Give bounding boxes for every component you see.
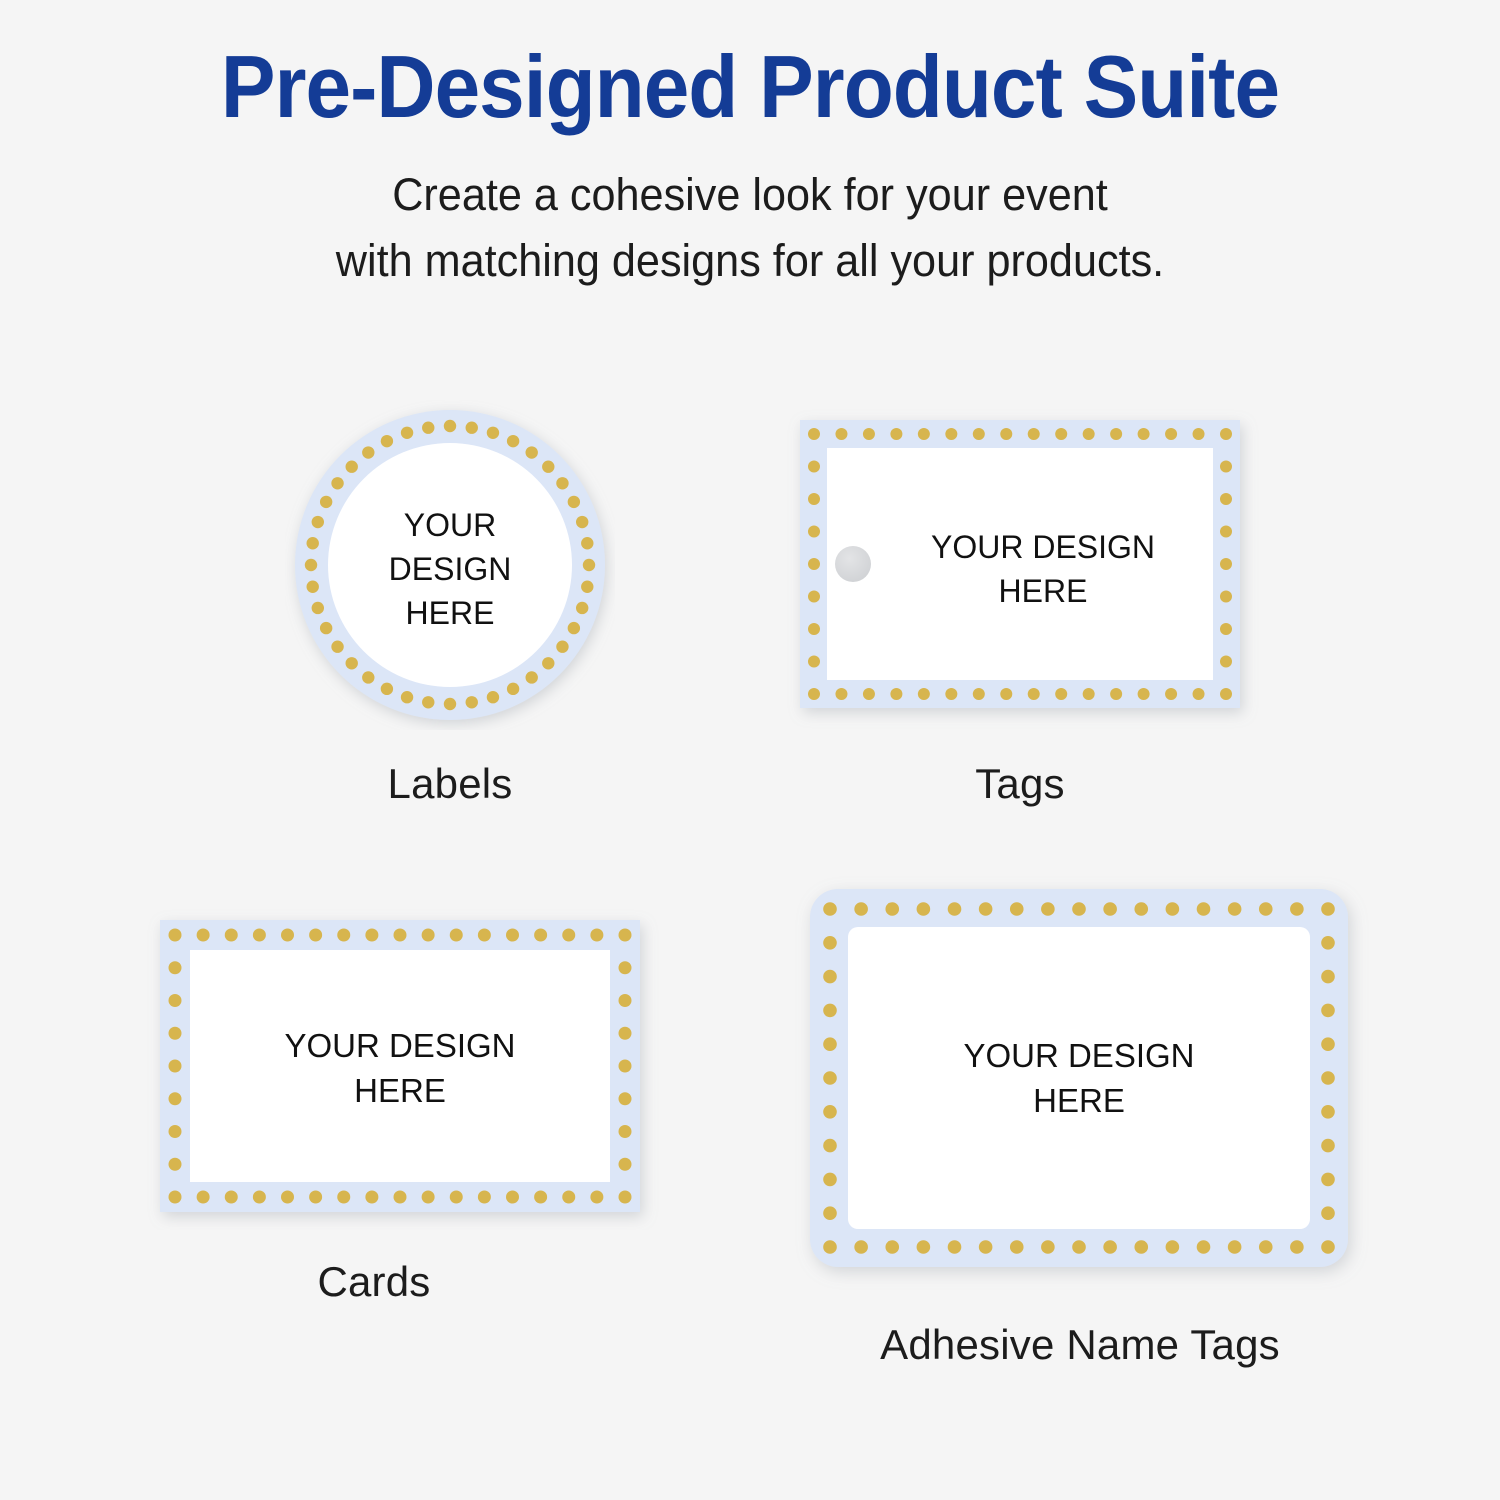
gold-dot [478,929,491,942]
gold-dot [312,516,324,528]
gold-dot [507,683,519,695]
gold-dot [808,656,820,668]
gold-dot [305,559,317,571]
gold-dot [1193,688,1205,700]
gold-dot [401,427,413,439]
gold-dot [1220,493,1232,505]
gold-dot [1072,902,1086,916]
gold-dot [450,929,463,942]
gold-dot [1220,656,1232,668]
card-white-face [190,950,610,1182]
gold-dot [362,671,374,683]
gold-dot [885,902,899,916]
gold-dot [1138,428,1150,440]
gold-dot [917,902,931,916]
gold-dot [576,602,588,614]
gold-dot [169,1191,182,1204]
gold-dot [401,691,413,703]
gold-dot [808,461,820,473]
gold-dot [1165,428,1177,440]
gold-dot [823,1173,837,1187]
gold-dot [556,641,568,653]
gold-dot [337,929,350,942]
gold-dot [1110,428,1122,440]
gold-dot [422,422,434,434]
gold-dot [576,516,588,528]
gold-dot [823,1139,837,1153]
gold-dot [487,691,499,703]
design-line-2: HERE [1033,1082,1125,1119]
gold-dot [979,902,993,916]
gold-dot [581,581,593,593]
gold-dot [619,1027,632,1040]
gold-dot [1134,1240,1148,1254]
gold-dot [1103,1240,1117,1254]
gold-dot [169,994,182,1007]
gold-dot [1166,1240,1180,1254]
gold-dot [948,902,962,916]
product-adhesive-name-tags[interactable]: YOUR DESIGN HERE Adhesive Name Tags [760,875,1400,1369]
gold-dot [619,961,632,974]
gold-dot [1220,461,1232,473]
design-line-2: HERE [999,573,1088,609]
gold-dot [823,1071,837,1085]
gold-dot [619,1125,632,1138]
gold-dot [312,602,324,614]
gold-dot [197,1191,210,1204]
gold-dot [1321,1173,1335,1187]
gold-dot [1010,902,1024,916]
gold-dot [1290,902,1304,916]
gold-dot [1193,428,1205,440]
gold-dot [253,1191,266,1204]
gold-dot [1166,902,1180,916]
gold-dot [590,1191,603,1204]
gold-dot [365,929,378,942]
gold-dot [808,526,820,538]
gold-dot [1321,1206,1335,1220]
gold-dot [444,420,456,432]
gold-dot [1010,1240,1024,1254]
gold-dot [526,446,538,458]
gold-dot [394,1191,407,1204]
gold-dot [534,1191,547,1204]
subtitle-line-2: with matching designs for all your produ… [30,228,1470,294]
gold-dot [854,902,868,916]
gold-dot [835,688,847,700]
gold-dot [346,461,358,473]
gold-dot [1134,902,1148,916]
gold-dot [169,1027,182,1040]
gold-dot [619,1191,632,1204]
gold-dot [590,929,603,942]
gold-dot [346,657,358,669]
subtitle-line-1: Create a cohesive look for your event [30,162,1470,228]
page-title: Pre-Designed Product Suite [53,42,1448,132]
gold-dot [1220,558,1232,570]
design-line-2: DESIGN [389,551,512,587]
gold-dot [562,1191,575,1204]
name-tag-art: YOUR DESIGN HERE [790,875,1370,1295]
gold-dot [169,1060,182,1073]
design-line-1: YOUR DESIGN [963,1037,1194,1074]
caption-tags: Tags [975,760,1065,808]
gold-dot [568,496,580,508]
gold-dot [362,446,374,458]
gold-dot [1228,1240,1242,1254]
gold-dot [1321,1139,1335,1153]
gold-dot [281,1191,294,1204]
gold-dot [422,1191,435,1204]
gold-dot [169,961,182,974]
gold-dot [506,929,519,942]
gold-dot [823,1037,837,1051]
hole-punch-icon [835,546,871,582]
gold-dot [885,1240,899,1254]
page-subtitle: Create a cohesive look for your event wi… [30,162,1470,294]
gold-dot [1228,902,1242,916]
gold-dot [169,1092,182,1105]
gold-dot [1110,688,1122,700]
gold-dot [466,696,478,708]
gold-dot [619,1158,632,1171]
round-label-art: YOUR DESIGN HERE [285,400,615,730]
gold-dot [1321,1240,1335,1254]
gold-dot [823,902,837,916]
gold-dot [918,688,930,700]
gold-dot [1041,1240,1055,1254]
gold-dot [1259,1240,1273,1254]
gold-dot [823,970,837,984]
gold-dot [823,936,837,950]
gold-dot [1220,526,1232,538]
gold-dot [320,622,332,634]
gold-dot [307,581,319,593]
gold-dot [307,537,319,549]
design-line-2: HERE [354,1072,446,1109]
gold-dot [542,657,554,669]
gold-dot [1321,1004,1335,1018]
gold-dot [1321,936,1335,950]
gold-dot [1220,623,1232,635]
gold-dot [1220,591,1232,603]
gold-dot [197,929,210,942]
gold-dot [320,496,332,508]
gold-dot [1083,688,1095,700]
gold-dot [808,558,820,570]
gold-dot [1028,688,1040,700]
gold-dot [863,428,875,440]
product-tags[interactable]: YOUR DESIGN HERE Tags [700,400,1340,808]
design-line-1: YOUR [404,507,496,543]
gold-dot [619,1092,632,1105]
gold-dot [1041,902,1055,916]
gold-dot [225,929,238,942]
gold-dot [526,671,538,683]
gold-dot [331,477,343,489]
gold-dot [1000,428,1012,440]
gold-dot [1055,688,1067,700]
gold-dot [253,929,266,942]
gold-dot [890,688,902,700]
gold-dot [450,1191,463,1204]
gold-dot [1321,970,1335,984]
gold-dot [854,1240,868,1254]
gold-dot [835,428,847,440]
gold-dot [381,435,393,447]
gold-dot [422,929,435,942]
gold-dot [823,1105,837,1119]
caption-labels: Labels [388,760,513,808]
gold-dot [1321,1037,1335,1051]
gold-dot [979,1240,993,1254]
gold-dot [331,641,343,653]
gold-dot [863,688,875,700]
gold-dot [337,1191,350,1204]
product-labels[interactable]: YOUR DESIGN HERE Labels [130,400,770,808]
gold-dot [619,994,632,1007]
name-tag-white-face [848,927,1310,1229]
design-line-1: YOUR DESIGN [284,1027,515,1064]
gold-dot [808,428,820,440]
gold-dot [948,1240,962,1254]
gold-dot [619,929,632,942]
gold-dot [1072,1240,1086,1254]
gold-dot [281,929,294,942]
gold-dot [534,929,547,942]
gold-dot [1321,1105,1335,1119]
gold-dot [1028,428,1040,440]
gold-dot [945,688,957,700]
gold-dot [823,1004,837,1018]
gold-dot [568,622,580,634]
gold-dot [918,428,930,440]
gold-dot [1321,902,1335,916]
gold-dot [466,422,478,434]
gold-dot [1165,688,1177,700]
gold-dot [1055,428,1067,440]
gold-dot [917,1240,931,1254]
gold-dot [478,1191,491,1204]
tag-art: YOUR DESIGN HERE [775,400,1265,730]
gold-dot [583,559,595,571]
gold-dot [945,428,957,440]
gold-dot [973,428,985,440]
product-cards[interactable]: YOUR DESIGN HERE Cards [80,900,720,1306]
gold-dot [365,1191,378,1204]
card-art: YOUR DESIGN HERE [120,900,680,1230]
gold-dot [1103,902,1117,916]
gold-dot [169,1125,182,1138]
gold-dot [169,1158,182,1171]
gold-dot [542,461,554,473]
gold-dot [581,537,593,549]
gold-dot [1000,688,1012,700]
gold-dot [309,1191,322,1204]
gold-dot [169,929,182,942]
gold-dot [562,929,575,942]
gold-dot [1083,428,1095,440]
gold-dot [487,427,499,439]
design-line-1: YOUR DESIGN [931,529,1155,565]
gold-dot [507,435,519,447]
header: Pre-Designed Product Suite Create a cohe… [0,0,1500,294]
gold-dot [309,929,322,942]
gold-dot [823,1240,837,1254]
gold-dot [381,683,393,695]
gold-dot [823,1206,837,1220]
gold-dot [225,1191,238,1204]
gold-dot [973,688,985,700]
gold-dot [1321,1071,1335,1085]
gold-dot [1290,1240,1304,1254]
gold-dot [1259,902,1273,916]
gold-dot [1138,688,1150,700]
gold-dot [444,698,456,710]
gold-dot [619,1060,632,1073]
product-grid: YOUR DESIGN HERE Labels YOUR [0,370,1500,1450]
gold-dot [556,477,568,489]
gold-dot [890,428,902,440]
gold-dot [808,688,820,700]
gold-dot [1197,902,1211,916]
design-line-3: HERE [406,595,495,631]
gold-dot [506,1191,519,1204]
gold-dot [808,591,820,603]
caption-adhesive-name-tags: Adhesive Name Tags [880,1321,1280,1369]
gold-dot [1220,428,1232,440]
gold-dot [394,929,407,942]
gold-dot [422,696,434,708]
caption-cards: Cards [317,1258,430,1306]
gold-dot [808,623,820,635]
gold-dot [1220,688,1232,700]
gold-dot [1197,1240,1211,1254]
gold-dot [808,493,820,505]
